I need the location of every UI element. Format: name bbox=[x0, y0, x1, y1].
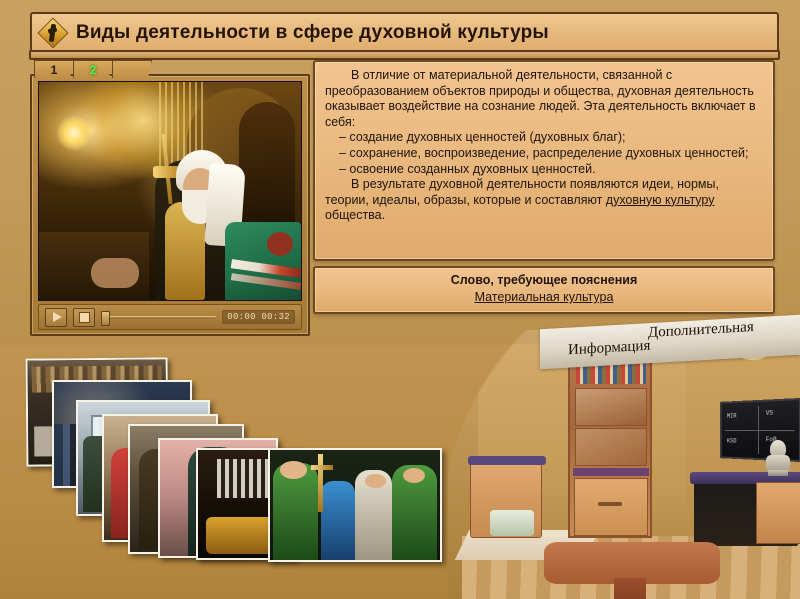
desk bbox=[694, 478, 798, 546]
room-scene[interactable]: MIR VS KSD FoB bbox=[448, 330, 800, 599]
bookcase bbox=[568, 350, 652, 538]
round-table bbox=[544, 542, 720, 584]
paragraph-5: В результате духовной деятельности появл… bbox=[325, 177, 763, 224]
paragraph-5-underlined: духовную культуру bbox=[606, 193, 715, 207]
glossary-panel: Слово, требующее пояснения Материальная … bbox=[313, 266, 775, 314]
content-text-panel: В отличие от материальной деятельности, … bbox=[313, 60, 775, 261]
congregant-hands bbox=[91, 258, 139, 288]
glossary-title: Слово, требующее пояснения bbox=[315, 273, 773, 287]
tab-spacer bbox=[112, 60, 152, 78]
slide-tabs: 1 2 bbox=[34, 60, 151, 77]
diamond-emblem-icon bbox=[40, 20, 66, 46]
seek-thumb[interactable] bbox=[101, 311, 110, 326]
video-controls: 00:00 00:32 bbox=[38, 304, 302, 330]
glossary-link[interactable]: Материальная культура bbox=[315, 290, 773, 304]
paragraph-3: – сохранение, воспроизведение, распредел… bbox=[325, 146, 763, 162]
folded-cloth bbox=[490, 510, 534, 536]
tab-2[interactable]: 2 bbox=[73, 60, 113, 78]
church-arch-inner bbox=[239, 102, 295, 228]
photo-stack[interactable] bbox=[0, 352, 460, 582]
video-time: 00:00 00:32 bbox=[222, 310, 295, 324]
paragraph-2: – создание духовных ценностей (духовных … bbox=[325, 130, 763, 146]
tab-1[interactable]: 1 bbox=[34, 60, 74, 78]
page-title: Виды деятельности в сфере духовной культ… bbox=[76, 22, 549, 44]
paragraph-5-suffix: общества. bbox=[325, 208, 385, 222]
paragraph-1: В отличие от материальной деятельности, … bbox=[325, 68, 763, 130]
seek-slider[interactable] bbox=[101, 309, 216, 326]
paragraph-4: – освоение созданных духовных ценностей. bbox=[325, 162, 763, 178]
page-title-bar: Виды деятельности в сфере духовной культ… bbox=[30, 12, 779, 54]
red-cloth bbox=[267, 232, 293, 256]
video-frame[interactable] bbox=[38, 81, 302, 301]
room-mask: MIR VS KSD FoB bbox=[448, 330, 800, 599]
bust-sculpture bbox=[766, 440, 790, 476]
slide-canvas: Виды деятельности в сфере духовной культ… bbox=[0, 0, 800, 599]
video-player[interactable]: 00:00 00:32 bbox=[30, 74, 310, 336]
seek-track[interactable] bbox=[101, 316, 216, 319]
lamp-light bbox=[57, 116, 91, 150]
stop-icon[interactable] bbox=[73, 308, 95, 327]
photo-liturgy-service[interactable] bbox=[268, 448, 442, 562]
play-icon[interactable] bbox=[45, 308, 67, 327]
